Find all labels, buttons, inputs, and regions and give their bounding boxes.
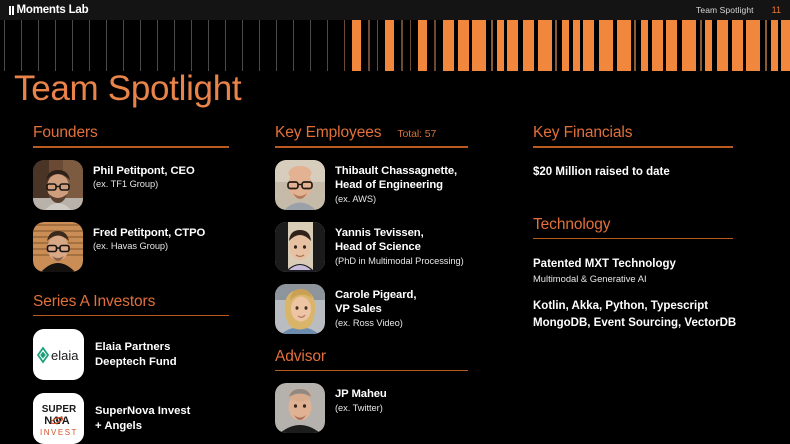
barcode-bar	[174, 20, 175, 71]
barcode-bar	[732, 20, 743, 71]
barcode-bar	[538, 20, 552, 71]
barcode-bar	[72, 20, 73, 71]
header-page-number: 11	[772, 5, 781, 15]
barcode-bar	[491, 20, 493, 71]
section-heading-key-financials: Key Financials	[533, 124, 753, 141]
barcode-bar	[157, 20, 158, 71]
person-note: (ex. Ross Video)	[335, 318, 416, 328]
barcode-bar	[523, 20, 534, 71]
key-employees-rule	[275, 146, 468, 148]
advisor-rule	[275, 370, 468, 372]
technology-primary-block: Patented MXT Technology Multimodal & Gen…	[533, 257, 753, 284]
barcode-bar	[771, 20, 778, 71]
barcode-bar	[208, 20, 209, 71]
portrait-thibault-chassagnette-icon	[275, 160, 325, 210]
barcode-bar	[634, 20, 636, 71]
portrait-fred-petitpont-icon	[33, 222, 83, 272]
technology-sub-line: Multimodal & Generative AI	[533, 273, 753, 284]
barcode-bar	[497, 20, 504, 71]
portrait-jp-maheu-icon	[275, 383, 325, 433]
investor-name-line1: Elaia Partners	[95, 340, 177, 355]
barcode-bar	[293, 20, 294, 71]
barcode-bar	[310, 20, 311, 71]
person-name-line1: Carole Pigeard,	[335, 288, 416, 302]
person-name-line2: Head of Science	[335, 240, 464, 254]
person-text: Fred Petitpont, CTPO (ex. Havas Group)	[93, 222, 205, 251]
person-text: Phil Petitpont, CEO (ex. TF1 Group)	[93, 160, 195, 189]
portrait-phil-petitpont-icon	[33, 160, 83, 210]
list-item[interactable]: JP Maheu (ex. Twitter)	[275, 383, 475, 433]
barcode-bar	[700, 20, 702, 71]
barcode-bar	[327, 20, 328, 71]
barcode-bar	[781, 20, 790, 71]
svg-text:INVEST: INVEST	[40, 428, 78, 437]
elaia-logo-icon: elaia	[33, 329, 84, 380]
financials-raised-line: $20 Million raised to date	[533, 166, 753, 178]
page-title: Team Spotlight	[14, 70, 241, 109]
supernova-invest-logo-icon: SUPER N VA INVEST	[33, 393, 84, 444]
barcode-bar	[55, 20, 56, 71]
technology-stack-line2: MongoDB, Event Sourcing, VectorDB	[533, 315, 753, 331]
header-deck-name: Team Spotlight	[696, 5, 754, 15]
brand-logo: Moments Lab	[9, 4, 88, 16]
section-heading-technology: Technology	[533, 216, 753, 233]
barcode-bar	[666, 20, 677, 71]
barcode-bar	[344, 20, 345, 71]
person-name-line2: VP Sales	[335, 302, 416, 316]
barcode-bar	[38, 20, 39, 71]
person-text: JP Maheu (ex. Twitter)	[335, 383, 387, 412]
barcode-bar	[472, 20, 486, 71]
column-employees-advisor: Key Employees Total: 57 T	[275, 124, 475, 433]
barcode-bar	[617, 20, 631, 71]
avatar	[275, 383, 325, 433]
person-note: (ex. Twitter)	[335, 403, 387, 413]
investor-text: Elaia Partners Deeptech Fund	[95, 340, 177, 371]
investor-text: SuperNova Invest + Angels	[95, 404, 190, 435]
barcode-bar	[507, 20, 518, 71]
bars-mark-icon	[9, 5, 14, 15]
investors-heading-label: Series A Investors	[33, 293, 155, 310]
barcode-bar	[401, 20, 403, 71]
avatar	[275, 222, 325, 272]
list-item[interactable]: Thibault Chassagnette, Head of Engineeri…	[275, 160, 475, 210]
barcode-bar	[191, 20, 192, 71]
svg-text:SUPER: SUPER	[41, 404, 76, 415]
barcode-bar	[259, 20, 260, 71]
founders-heading-label: Founders	[33, 124, 98, 141]
column-financials-technology: Key Financials $20 Million raised to dat…	[533, 124, 753, 331]
person-note: (ex. TF1 Group)	[93, 179, 195, 189]
person-text: Thibault Chassagnette, Head of Engineeri…	[335, 160, 457, 204]
supernova-wordmark-icon: SUPER N VA INVEST	[37, 400, 81, 438]
portrait-carole-pigeard-icon	[275, 284, 325, 334]
founders-rule	[33, 146, 229, 148]
section-heading-series-a-investors: Series A Investors	[33, 293, 233, 310]
barcode-bar	[368, 20, 370, 71]
slide-header-bar: Moments Lab Team Spotlight 11	[0, 0, 790, 20]
barcode-bar	[140, 20, 141, 71]
barcode-bar	[652, 20, 663, 71]
list-item[interactable]: SUPER N VA INVEST SuperNova Invest + Ang…	[33, 393, 233, 444]
list-item[interactable]: Carole Pigeard, VP Sales (ex. Ross Video…	[275, 284, 475, 334]
barcode-bar	[599, 20, 613, 71]
person-name: Fred Petitpont, CTPO	[93, 226, 205, 240]
barcode-bar	[573, 20, 580, 71]
technology-rule	[533, 238, 733, 240]
section-heading-advisor: Advisor	[275, 348, 475, 365]
barcode-bar	[385, 20, 394, 71]
barcode-bar	[434, 20, 436, 71]
barcode-bar	[555, 20, 557, 71]
person-text: Carole Pigeard, VP Sales (ex. Ross Video…	[335, 284, 416, 328]
avatar	[275, 284, 325, 334]
key-financials-rule	[533, 146, 733, 148]
decorative-barcode-strip	[0, 20, 790, 71]
person-name-line1: JP Maheu	[335, 387, 387, 401]
barcode-bar	[225, 20, 226, 71]
key-financials-heading-label: Key Financials	[533, 124, 632, 141]
barcode-bar	[562, 20, 569, 71]
elaia-wordmark-icon: elaia	[36, 345, 82, 365]
investors-rule	[33, 315, 229, 317]
technology-stack-line1: Kotlin, Akka, Python, Typescript	[533, 298, 753, 314]
list-item[interactable]: Fred Petitpont, CTPO (ex. Havas Group)	[33, 222, 233, 272]
section-heading-founders: Founders	[33, 124, 233, 141]
section-heading-key-employees: Key Employees Total: 57	[275, 124, 475, 141]
barcode-bar	[717, 20, 728, 71]
list-item[interactable]: Yannis Tevissen, Head of Science (PhD in…	[275, 222, 475, 272]
person-note: (ex. AWS)	[335, 194, 457, 204]
barcode-bar	[746, 20, 760, 71]
barcode-bar	[418, 20, 427, 71]
barcode-bar	[242, 20, 243, 71]
key-employees-heading-label: Key Employees	[275, 124, 381, 141]
avatar	[275, 160, 325, 210]
portrait-yannis-tevissen-icon	[275, 222, 325, 272]
barcode-bar	[4, 20, 5, 71]
barcode-bar	[377, 20, 378, 71]
technology-main-line: Patented MXT Technology	[533, 257, 753, 272]
technology-heading-label: Technology	[533, 216, 610, 233]
barcode-bar	[458, 20, 469, 71]
barcode-bar	[21, 20, 22, 71]
person-name-line1: Thibault Chassagnette,	[335, 164, 457, 178]
barcode-bar	[89, 20, 90, 71]
barcode-bar	[443, 20, 454, 71]
barcode-bar	[352, 20, 361, 71]
investor-name-line2: + Angels	[95, 419, 190, 434]
investor-name-line1: SuperNova Invest	[95, 404, 190, 419]
avatar	[33, 222, 83, 272]
person-name: Phil Petitpont, CEO	[93, 164, 195, 178]
list-item[interactable]: Phil Petitpont, CEO (ex. TF1 Group)	[33, 160, 233, 210]
barcode-bar	[682, 20, 696, 71]
employee-total-badge: Total: 57	[397, 129, 436, 141]
barcode-bar	[410, 20, 411, 71]
investor-name-line2: Deeptech Fund	[95, 355, 177, 370]
avatar	[33, 160, 83, 210]
barcode-bar	[106, 20, 107, 71]
barcode-bar	[276, 20, 277, 71]
column-founders-investors: Founders	[33, 124, 233, 444]
person-note: (ex. Havas Group)	[93, 241, 205, 251]
barcode-bar	[583, 20, 594, 71]
person-note: (PhD in Multimodal Processing)	[335, 256, 464, 266]
svg-text:elaia: elaia	[51, 348, 79, 363]
person-text: Yannis Tevissen, Head of Science (PhD in…	[335, 222, 464, 266]
person-name-line2: Head of Engineering	[335, 178, 457, 192]
list-item[interactable]: elaia Elaia Partners Deeptech Fund	[33, 329, 233, 380]
person-name-line1: Yannis Tevissen,	[335, 226, 464, 240]
header-meta: Team Spotlight 11	[696, 5, 781, 15]
barcode-bar	[765, 20, 767, 71]
technology-stack-block: Kotlin, Akka, Python, Typescript MongoDB…	[533, 298, 753, 331]
brand-logo-text: Moments Lab	[17, 4, 89, 16]
barcode-bar	[123, 20, 124, 71]
advisor-heading-label: Advisor	[275, 348, 326, 365]
barcode-bar	[641, 20, 648, 71]
barcode-bar	[705, 20, 712, 71]
